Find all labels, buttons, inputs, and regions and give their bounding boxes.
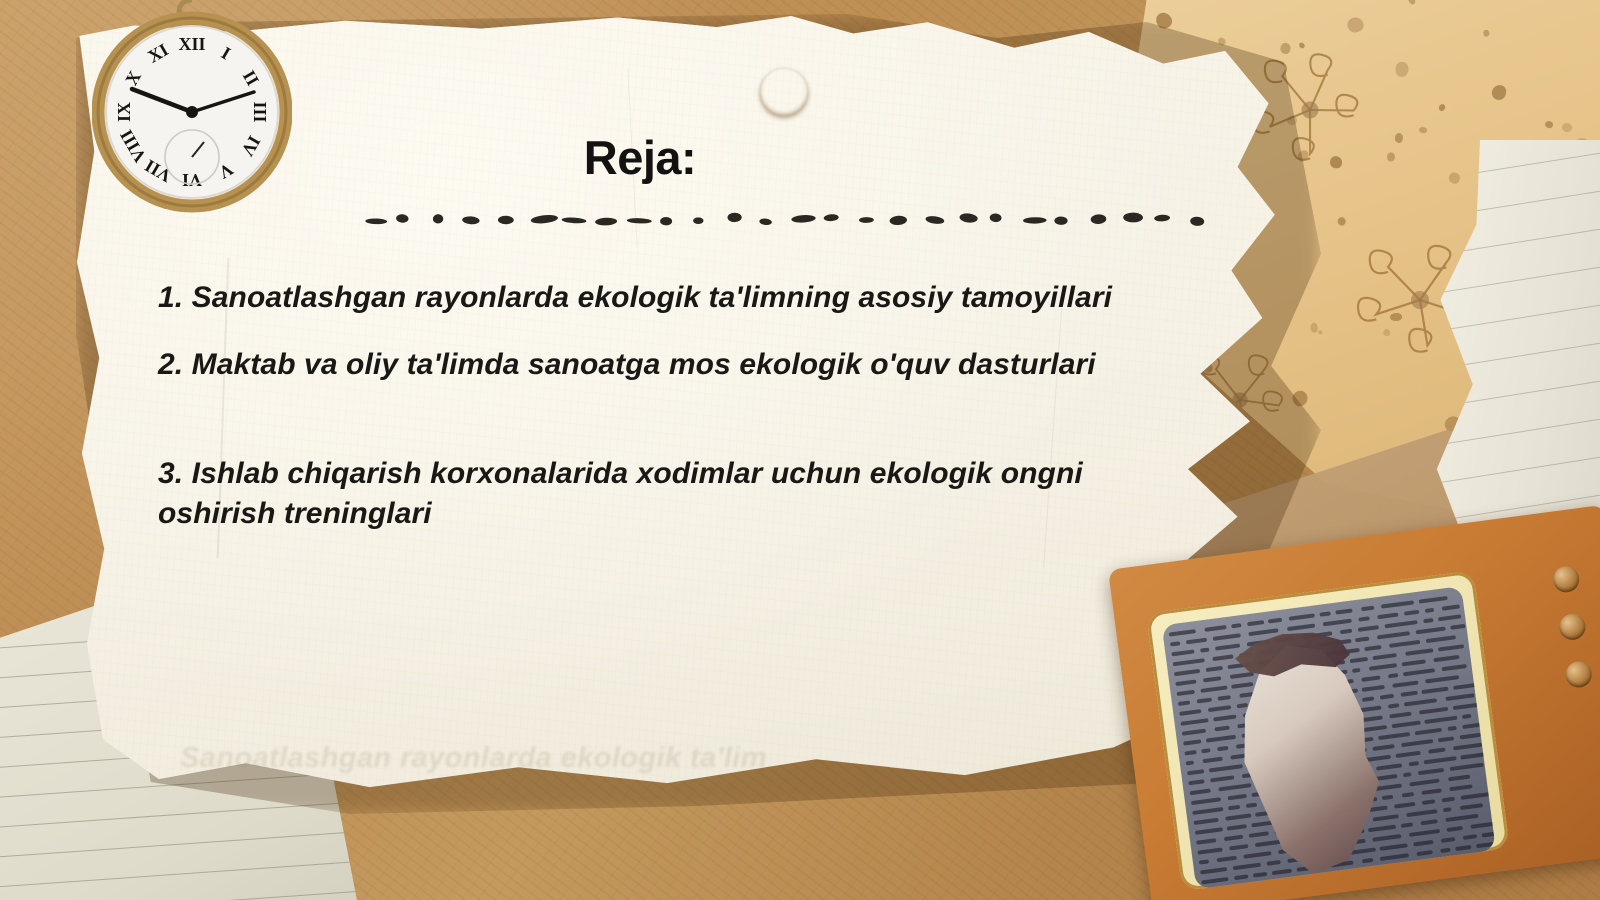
newsprint-line	[1388, 673, 1398, 678]
newsprint-line	[1422, 687, 1449, 694]
newsprint-line	[1173, 658, 1206, 666]
newsprint-line	[1382, 795, 1394, 800]
newsprint-line	[1227, 824, 1247, 831]
newsprint-line	[1170, 641, 1180, 646]
newsprint-line	[1373, 814, 1400, 821]
newsprint-line	[1204, 625, 1227, 632]
newsprint-line	[1392, 721, 1421, 729]
clock-center-cap	[186, 106, 198, 118]
newsprint-line	[1192, 807, 1223, 815]
divider-dash	[462, 216, 480, 225]
newsprint-line	[1179, 709, 1201, 716]
divider-dash	[859, 217, 874, 223]
newsprint-line	[1380, 694, 1394, 700]
newsprint-line	[1206, 666, 1223, 672]
newsprint-line	[1217, 746, 1228, 751]
newsprint-line	[1461, 714, 1471, 719]
newsprint-line	[1180, 718, 1208, 726]
newsprint-line	[1361, 606, 1374, 612]
retro-wooden-tv-icon	[1108, 505, 1600, 900]
newsprint-line	[1447, 726, 1456, 731]
newsprint-line	[1406, 809, 1437, 817]
newsprint-line	[1213, 715, 1236, 722]
newsprint-line	[1201, 877, 1228, 884]
newsprint-line	[1409, 829, 1440, 837]
newsprint-line	[1387, 703, 1399, 708]
newsprint-line	[1214, 725, 1230, 731]
newsprint-line	[1418, 596, 1448, 604]
newsprint-line	[1188, 779, 1205, 785]
newsprint-line	[1169, 629, 1197, 637]
newsprint-line	[1226, 813, 1252, 820]
svg-text:III: III	[250, 101, 270, 122]
newsprint-line	[1243, 851, 1272, 859]
divider-dash	[759, 218, 772, 226]
list-item: 1. Sanoatlashgan rayonlarda ekologik ta'…	[158, 278, 1148, 319]
newsprint-line	[1174, 669, 1200, 676]
divider-dash	[889, 215, 907, 225]
tv-bezel	[1146, 570, 1510, 891]
newsprint-line	[1443, 807, 1452, 812]
newsprint-line	[1361, 858, 1373, 863]
newsprint-line	[1449, 763, 1483, 771]
divider-dash	[627, 218, 652, 224]
newsprint-line	[1445, 693, 1474, 701]
newsprint-line	[1460, 752, 1491, 760]
newsprint-line	[1362, 675, 1381, 681]
newsprint-line	[1229, 844, 1248, 850]
newsprint-line	[1268, 618, 1282, 624]
newsprint-line	[1425, 675, 1459, 683]
newsprint-line	[1438, 736, 1455, 742]
newsprint-line	[1186, 760, 1195, 765]
tv-knob	[1564, 660, 1593, 689]
newsprint-line	[1419, 707, 1448, 715]
newsprint-line	[1441, 604, 1460, 610]
newsprint-line	[1228, 794, 1247, 800]
divider-dash	[727, 213, 741, 223]
newsprint-line	[1217, 695, 1231, 701]
newsprint-line	[1455, 845, 1471, 851]
newsprint-line	[1476, 841, 1496, 849]
newsprint-line	[1403, 772, 1412, 777]
newsprint-line	[1369, 663, 1397, 671]
newsprint-line	[1448, 775, 1470, 782]
newsprint-line	[1233, 863, 1261, 871]
divider-dash	[1190, 216, 1205, 226]
newsprint-line	[1401, 739, 1434, 747]
newsprint-line	[1420, 819, 1438, 825]
newsprint-line	[1416, 850, 1433, 856]
divider-dash	[823, 214, 838, 222]
newsprint-line	[1453, 702, 1482, 710]
newsprint-line	[1195, 827, 1223, 835]
newsprint-line	[1357, 625, 1379, 632]
newsprint-line	[1362, 696, 1374, 702]
newsprint-line	[1247, 620, 1264, 626]
divider-dash	[1154, 214, 1170, 221]
newsprint-line	[1210, 775, 1234, 782]
newsprint-line	[1416, 626, 1446, 634]
newsprint-line	[1266, 860, 1280, 866]
newsprint-line	[1184, 750, 1197, 756]
newsprint-line	[1219, 783, 1252, 791]
newsprint-line	[1380, 843, 1408, 851]
divider-dash	[1023, 217, 1047, 224]
newsprint-line	[1377, 631, 1410, 639]
newsprint-line	[1440, 848, 1450, 853]
newsprint-line	[1201, 647, 1210, 652]
newsprint-line	[1393, 680, 1419, 687]
newsprint-line	[1201, 748, 1210, 753]
newsprint-line	[1415, 728, 1442, 735]
page-title: Reja:	[330, 130, 950, 185]
newsprint-line	[1200, 867, 1228, 875]
newsprint-line	[1196, 838, 1216, 845]
vintage-wall-clock-icon: XIIIIIIIIIVVVIVIIVIIIIXXXI	[92, 0, 292, 222]
divider-dash	[433, 214, 444, 224]
newsprint-line	[1365, 645, 1382, 651]
newsprint-line	[1186, 638, 1207, 645]
newsprint-line	[1228, 805, 1240, 810]
newsprint-line	[1402, 792, 1414, 797]
newsprint-line	[1335, 608, 1353, 614]
newsprint-line	[1200, 685, 1228, 693]
newsprint-line	[1199, 859, 1210, 864]
tv-knob	[1558, 612, 1587, 641]
newsprint-line	[1361, 715, 1383, 722]
newsprint-line	[1453, 683, 1479, 690]
newsprint-line	[1413, 840, 1433, 846]
newsprint-line	[1438, 614, 1462, 621]
newsprint-line	[1429, 748, 1446, 754]
newsprint-line	[1447, 826, 1463, 832]
newsprint-line	[1183, 739, 1202, 745]
newsprint-line	[1340, 629, 1352, 635]
tv-screen	[1162, 586, 1496, 889]
divider-dash	[530, 214, 558, 225]
svg-text:IX: IX	[114, 102, 134, 122]
newsprint-line	[1191, 797, 1222, 805]
divider-dash	[791, 214, 816, 223]
divider-dash	[693, 217, 703, 224]
newsprint-line	[1213, 654, 1234, 661]
newsprint-line	[1229, 672, 1254, 679]
newsprint-line	[1372, 744, 1394, 751]
newsprint-line	[1460, 733, 1481, 740]
newsprint-line	[1395, 751, 1420, 758]
newsprint-line	[1401, 822, 1413, 827]
newsprint-line	[1423, 756, 1457, 764]
newsprint-line	[1433, 655, 1459, 662]
newsprint-line	[1212, 633, 1241, 641]
newsprint-line	[1288, 613, 1314, 620]
newsprint-line	[1401, 659, 1425, 666]
newsprint-line	[1352, 668, 1361, 673]
newsprint-line	[1187, 769, 1204, 775]
divider-dash	[989, 213, 1001, 222]
newsprint-line	[1425, 608, 1435, 613]
svg-text:XII: XII	[178, 34, 205, 54]
newsprint-line	[1248, 628, 1278, 636]
newsprint-line	[1450, 784, 1473, 791]
newsprint-line	[1203, 676, 1222, 682]
newsprint-line	[1401, 691, 1418, 697]
newsprint-line	[1215, 643, 1240, 650]
paper-rule-line	[1427, 304, 1600, 333]
tv-knob	[1552, 565, 1581, 594]
paper-watermark-text: Sanoatlashgan rayonlarda ekologik ta'lim	[180, 742, 1060, 778]
newsprint-line	[1462, 722, 1488, 729]
divider-dash	[925, 215, 945, 225]
newsprint-line	[1441, 797, 1455, 803]
divider-dash	[396, 214, 409, 223]
divider-dash	[1123, 212, 1143, 222]
newsprint-line	[1481, 831, 1496, 837]
newsprint-line	[1171, 649, 1194, 656]
newsprint-line	[1231, 682, 1253, 689]
newsprint-line	[1423, 618, 1434, 623]
newsprint-line	[1177, 690, 1195, 696]
newsprint-line	[1376, 763, 1402, 770]
newsprint-line	[1271, 869, 1292, 876]
newsprint-line	[1287, 623, 1316, 631]
newsprint-line	[1381, 600, 1414, 608]
newsprint-line	[1190, 789, 1211, 796]
newsprint-line	[1217, 856, 1237, 863]
newsprint-line	[1438, 644, 1464, 651]
newsprint-line	[1368, 825, 1397, 833]
divider-dash	[660, 217, 672, 225]
newsprint-line	[1389, 712, 1412, 719]
newsprint-line	[1377, 613, 1398, 620]
newsprint-line	[1372, 653, 1397, 660]
divider-dash	[561, 217, 586, 224]
svg-text:VI: VI	[182, 170, 202, 190]
newsprint-line	[1320, 611, 1331, 616]
newsprint-line	[1421, 788, 1441, 795]
newsprint-line	[1175, 679, 1197, 686]
newsprint-line	[1450, 624, 1466, 630]
divider-dash	[959, 213, 978, 224]
newsprint-line	[1193, 818, 1219, 825]
newsprint-line	[1425, 716, 1458, 724]
newsprint-line	[1404, 610, 1419, 616]
newsprint-line	[1197, 848, 1222, 855]
newsprint-line	[1209, 764, 1243, 772]
newsprint-line	[1385, 620, 1419, 628]
newsprint-line	[1403, 668, 1436, 676]
newsprint-line	[1205, 735, 1235, 743]
divider-dash	[365, 218, 387, 224]
newsprint-line	[1234, 874, 1248, 880]
newsprint-line	[1355, 637, 1369, 643]
paper-rule-line	[1427, 456, 1600, 485]
newsprint-line	[1362, 685, 1386, 692]
newsprint-line	[1378, 732, 1410, 740]
newsprint-line	[1202, 757, 1223, 764]
list-item: 2. Maktab va oliy ta'limda sanoatga mos …	[158, 345, 1148, 386]
newsprint-line	[1236, 703, 1248, 708]
divider-dash	[1054, 216, 1067, 224]
agenda-list: 1. Sanoatlashgan rayonlarda ekologik ta'…	[158, 278, 1148, 535]
newsprint-line	[1470, 822, 1495, 829]
newsprint-line	[1418, 768, 1444, 775]
newsprint-line	[1380, 853, 1409, 861]
newsprint-line	[1441, 664, 1467, 671]
list-item: 3. Ishlab chiqarish korxonalarida xodiml…	[158, 454, 1148, 536]
newsprint-line	[1422, 799, 1435, 805]
newsprint-line	[1409, 779, 1439, 787]
newsprint-line	[1372, 834, 1401, 842]
brass-brad-pin-icon	[760, 68, 808, 116]
newsprint-line	[1231, 623, 1242, 628]
newsprint-line	[1224, 835, 1243, 841]
newsprint-line	[1323, 619, 1352, 627]
newsprint-line	[1404, 698, 1437, 706]
newsprint-line	[1405, 648, 1433, 656]
newsprint-line	[1453, 743, 1482, 751]
newsprint-line	[1182, 729, 1207, 736]
slide-canvas: Sanoatlashgan rayonlarda ekologik ta'lim…	[0, 0, 1600, 900]
newsprint-line	[1460, 803, 1484, 810]
newsprint-line	[1441, 837, 1455, 843]
newsprint-line	[1253, 872, 1267, 878]
divider-dash	[498, 216, 514, 225]
newsprint-line	[1358, 616, 1370, 621]
divider-dash	[595, 217, 617, 225]
newsprint-line	[1196, 698, 1212, 704]
newsprint-line	[1178, 700, 1190, 706]
newsprint-line	[1394, 802, 1415, 809]
newsprint-line	[1350, 657, 1369, 663]
newsprint-line	[1409, 761, 1419, 766]
newsprint-line	[1246, 803, 1257, 808]
newsprint-line	[1208, 705, 1231, 712]
newsprint-line	[1426, 635, 1456, 643]
newsprint-line	[1445, 814, 1479, 822]
divider-dash	[1090, 214, 1106, 224]
hand-drawn-dashed-divider	[358, 206, 1223, 234]
newsprint-line	[1460, 792, 1489, 800]
newsprint-line	[1248, 831, 1269, 838]
newsprint-line	[1389, 640, 1420, 648]
newsprint-line	[1463, 834, 1478, 840]
